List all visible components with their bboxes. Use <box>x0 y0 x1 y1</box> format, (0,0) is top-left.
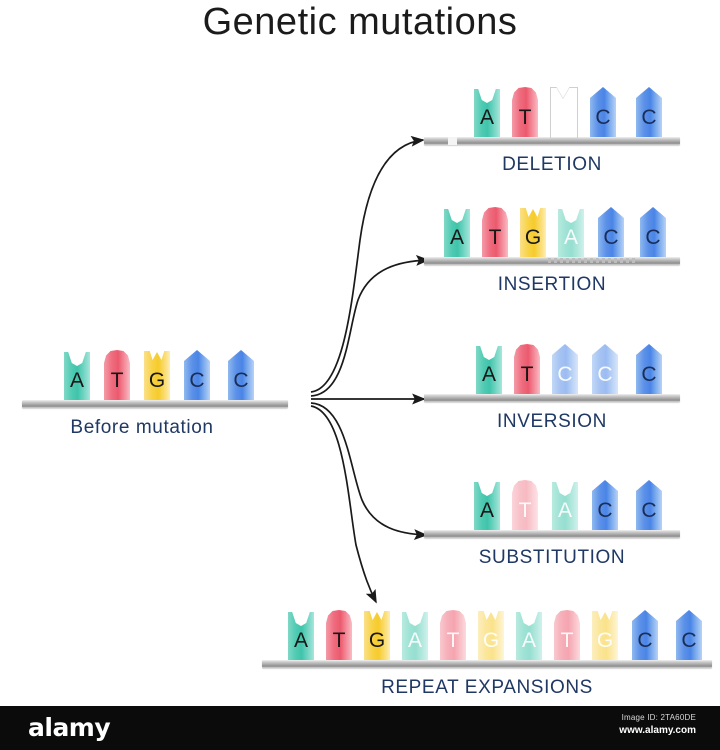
sequence-repeat-expansions: A T G A T G A <box>262 608 712 699</box>
base-T: T <box>512 480 538 530</box>
base-letter: A <box>564 227 578 257</box>
base-inverted-C: C <box>592 344 618 394</box>
base-letter: C <box>595 107 610 137</box>
base-deleted-slot: G <box>550 87 576 137</box>
base-C: C <box>636 87 662 137</box>
base-letter: A <box>480 500 494 530</box>
base-letter: T <box>561 630 574 660</box>
base-repeat-G: G <box>478 610 504 660</box>
base-T: T <box>104 350 130 400</box>
base-inverted-C: C <box>552 344 578 394</box>
base-letter: C <box>645 227 660 257</box>
base-letter: C <box>641 500 656 530</box>
base-letter: G <box>149 370 165 400</box>
base-inserted-A: A <box>558 207 584 257</box>
base-letter: C <box>681 630 696 660</box>
base-row: A T G A C C <box>424 205 680 257</box>
base-letter: C <box>597 364 612 394</box>
alamy-url: www.alamy.com <box>619 725 696 737</box>
sequence-substitution: A T A C C SUBSTITUTION <box>424 478 680 569</box>
base-C: C <box>592 480 618 530</box>
dna-rail <box>262 660 712 668</box>
sequence-caption: INVERSION <box>424 411 680 433</box>
sequence-caption: Before mutation <box>22 417 262 439</box>
base-C: C <box>636 344 662 394</box>
base-repeat-A: A <box>516 610 542 660</box>
sequence-caption: REPEAT EXPANSIONS <box>262 677 712 699</box>
base-A: A <box>474 480 500 530</box>
sequence-before-mutation: A T G C C Before mutation <box>22 348 288 439</box>
notch-fill <box>556 86 570 98</box>
base-repeat-G: G <box>592 610 618 660</box>
sequence-deletion: A T G C C DELETION <box>424 85 680 176</box>
dna-rail <box>22 400 288 408</box>
base-row: A T G C C <box>22 348 288 400</box>
base-row: A T G C C <box>424 85 680 137</box>
base-letter: A <box>294 630 308 660</box>
base-C: C <box>184 350 210 400</box>
dna-rail <box>424 394 680 402</box>
base-row: A T A C C <box>424 478 680 530</box>
base-row: A T G A T G A <box>262 608 712 660</box>
base-letter: A <box>70 370 84 400</box>
base-G: G <box>144 350 170 400</box>
sequence-inversion: A T C C C INVERSION <box>424 342 680 433</box>
base-T: T <box>326 610 352 660</box>
base-letter: A <box>450 227 464 257</box>
base-G: G <box>364 610 390 660</box>
base-T: T <box>482 207 508 257</box>
base-letter: C <box>597 500 612 530</box>
base-letter: G <box>555 107 571 137</box>
base-letter: C <box>189 370 204 400</box>
base-letter: T <box>333 630 346 660</box>
arrow-to-insertion <box>311 260 428 396</box>
base-repeat-A: A <box>402 610 428 660</box>
base-A: A <box>474 87 500 137</box>
arrow-to-substitution <box>311 403 426 535</box>
alamy-logo: alamy <box>28 715 110 740</box>
base-letter: A <box>480 107 494 137</box>
base-A: A <box>476 344 502 394</box>
base-letter: C <box>637 630 652 660</box>
image-id-label: Image ID: 2TA60DE <box>622 713 696 723</box>
base-C: C <box>228 350 254 400</box>
base-row: A T C C C <box>424 342 680 394</box>
base-letter: C <box>557 364 572 394</box>
alamy-watermark-bar: alamy Image ID: 2TA60DE www.alamy.com <box>0 706 720 750</box>
base-letter: G <box>597 630 613 660</box>
base-letter: G <box>369 630 385 660</box>
base-C: C <box>632 610 658 660</box>
rail-gap <box>448 137 457 145</box>
base-letter: A <box>522 630 536 660</box>
base-C: C <box>640 207 666 257</box>
base-letter: C <box>603 227 618 257</box>
sequence-caption: DELETION <box>424 154 680 176</box>
base-letter: T <box>489 227 502 257</box>
base-C: C <box>676 610 702 660</box>
arrow-to-deletion <box>311 140 423 392</box>
base-A: A <box>64 350 90 400</box>
dna-rail <box>424 530 680 538</box>
base-C: C <box>598 207 624 257</box>
base-A: A <box>444 207 470 257</box>
base-letter: T <box>111 370 124 400</box>
base-letter: A <box>482 364 496 394</box>
base-T: T <box>512 87 538 137</box>
diagram-canvas: Genetic mutations A T <box>0 0 720 750</box>
base-letter: T <box>519 500 532 530</box>
sequence-caption: SUBSTITUTION <box>424 547 680 569</box>
base-letter: G <box>525 227 541 257</box>
base-T: T <box>514 344 540 394</box>
base-repeat-T: T <box>440 610 466 660</box>
base-letter: C <box>233 370 248 400</box>
base-letter: T <box>519 107 532 137</box>
base-letter: C <box>641 364 656 394</box>
base-A: A <box>288 610 314 660</box>
sequence-caption: INSERTION <box>424 274 680 296</box>
base-C: C <box>590 87 616 137</box>
page-title: Genetic mutations <box>0 0 720 44</box>
sequence-insertion: A T G A C C <box>424 205 680 296</box>
dna-rail <box>424 257 680 265</box>
base-substituted-A: A <box>552 480 578 530</box>
base-letter: A <box>558 500 572 530</box>
rail-insert-marker <box>548 258 638 263</box>
base-letter: G <box>483 630 499 660</box>
arrow-to-repeat <box>311 406 376 602</box>
base-letter: T <box>521 364 534 394</box>
base-letter: T <box>447 630 460 660</box>
base-C: C <box>636 480 662 530</box>
base-G: G <box>520 207 546 257</box>
base-letter: A <box>408 630 422 660</box>
base-letter: C <box>641 107 656 137</box>
base-repeat-T: T <box>554 610 580 660</box>
